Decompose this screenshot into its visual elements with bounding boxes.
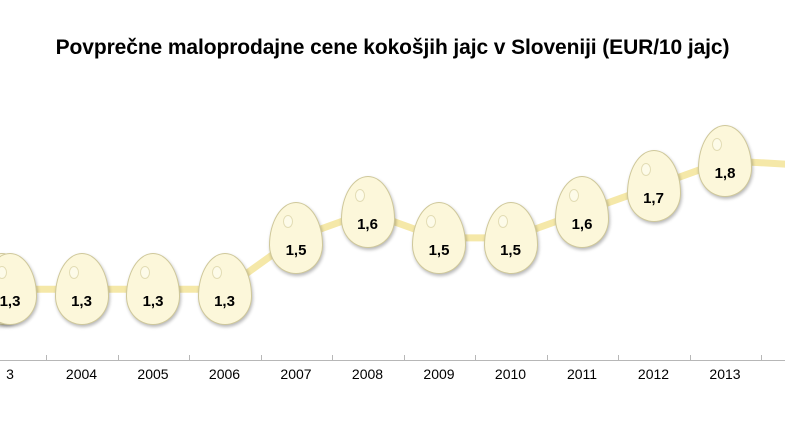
x-axis-tick: [189, 355, 190, 361]
data-point-label: 1,3: [56, 293, 108, 310]
egg-highlight-icon: [641, 163, 651, 176]
x-axis-tick: [690, 355, 691, 361]
x-axis-tick-label: 2006: [195, 366, 255, 382]
egg-highlight-icon: [69, 266, 79, 279]
data-point-marker: 1,3: [198, 253, 252, 325]
egg-highlight-icon: [283, 215, 293, 228]
data-point-label: 1,7: [628, 190, 680, 207]
data-point-marker: 1,5: [484, 202, 538, 274]
x-axis-tick: [618, 355, 619, 361]
plot-area: 1,31,31,31,31,51,61,51,51,61,71,8: [0, 95, 785, 360]
chart-page: Povprečne maloprodajne cene kokošjih jaj…: [0, 0, 785, 442]
x-axis-tick: [46, 355, 47, 361]
egg-highlight-icon: [0, 266, 7, 279]
x-axis-tick-label: 2005: [123, 366, 183, 382]
egg-highlight-icon: [355, 189, 365, 202]
data-point-label: 1,3: [127, 293, 179, 310]
egg-highlight-icon: [426, 215, 436, 228]
data-point-marker: 1,3: [55, 253, 109, 325]
bottom-margin-band: [0, 400, 785, 442]
x-axis-labels: 3200420052006200720082009201020112012201…: [0, 366, 785, 388]
chart-title: Povprečne maloprodajne cene kokošjih jaj…: [0, 36, 785, 60]
data-point-label: 1,5: [413, 242, 465, 259]
x-axis-tick-label: 2013: [695, 366, 755, 382]
data-point-label: 1,5: [270, 242, 322, 259]
x-axis-tick: [332, 355, 333, 361]
x-axis-tick-label: 2012: [624, 366, 684, 382]
data-point-label: 1,5: [485, 242, 537, 259]
x-axis-tick-label: 2010: [481, 366, 541, 382]
egg-highlight-icon: [140, 266, 150, 279]
egg-highlight-icon: [498, 215, 508, 228]
x-axis-tick: [261, 355, 262, 361]
x-axis-tick: [404, 355, 405, 361]
data-point-label: 1,3: [0, 293, 36, 310]
data-point-label: 1,8: [699, 165, 751, 182]
x-axis-tick-label: 2007: [266, 366, 326, 382]
data-point-label: 1,6: [556, 216, 608, 233]
x-axis-tick: [761, 355, 762, 361]
x-axis-tick-label: 2008: [338, 366, 398, 382]
egg-highlight-icon: [712, 138, 722, 151]
x-axis-tick: [547, 355, 548, 361]
x-axis-tick-label: 3: [0, 366, 40, 382]
egg-highlight-icon: [212, 266, 222, 279]
data-point-marker: 1,6: [341, 176, 395, 248]
data-point-label: 1,3: [199, 293, 251, 310]
x-axis-tick: [475, 355, 476, 361]
x-axis-tick: [118, 355, 119, 361]
x-axis-tick-label: 2004: [52, 366, 112, 382]
x-axis-tick-label: 2009: [409, 366, 469, 382]
data-point-marker: 1,7: [627, 150, 681, 222]
x-axis-tick-label: 2011: [552, 366, 612, 382]
data-point-label: 1,6: [342, 216, 394, 233]
egg-highlight-icon: [569, 189, 579, 202]
